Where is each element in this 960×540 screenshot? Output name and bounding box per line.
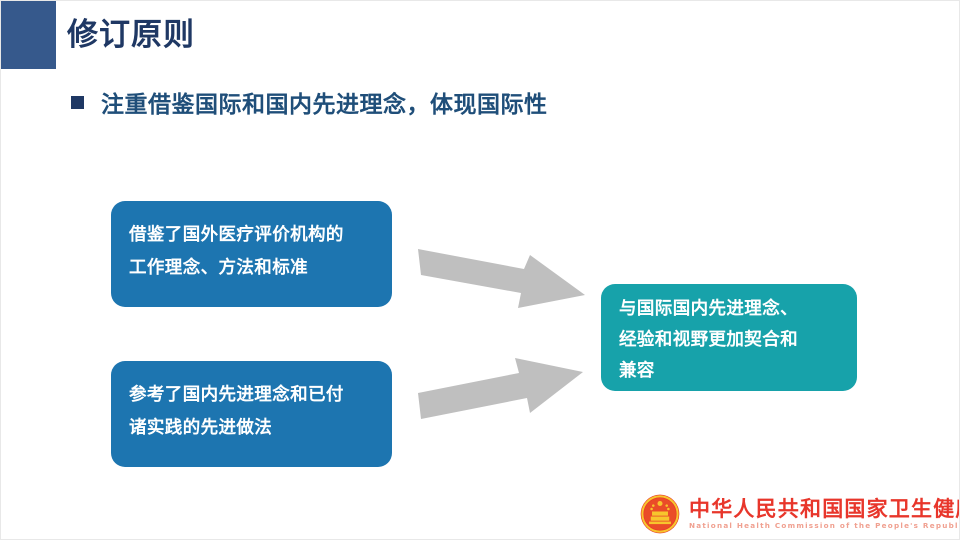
title-accent-bar [1, 1, 56, 69]
footer-org-name-en: National Health Commission of the People… [689, 521, 960, 532]
slide-canvas: 修订原则 注重借鉴国际和国内先进理念，体现国际性 借鉴了国外医疗评价机构的 工作… [0, 0, 960, 540]
text-line: 借鉴了国外医疗评价机构的 [129, 219, 380, 252]
footer-logo: 中华人民共和国国家卫生健康委员会 National Health Commiss… [639, 493, 960, 535]
text-line: 诸实践的先进做法 [129, 412, 380, 445]
arrow-right-down-icon [415, 235, 595, 325]
diagram-box-result: 与国际国内先进理念、 经验和视野更加契合和 兼容 [601, 284, 857, 391]
text-line: 经验和视野更加契合和 [619, 325, 845, 356]
arrow-right-up-icon [415, 345, 595, 435]
text-line: 工作理念、方法和标准 [129, 252, 380, 285]
square-bullet-icon [71, 96, 84, 109]
diagram-box-domestic-practice: 参考了国内先进理念和已付 诸实践的先进做法 [111, 361, 392, 467]
diagram-box-domestic-practice-lines: 参考了国内先进理念和已付 诸实践的先进做法 [129, 379, 380, 445]
text-line: 兼容 [619, 356, 845, 387]
footer-logo-text: 中华人民共和国国家卫生健康委员会 National Health Commiss… [689, 497, 960, 532]
diagram-box-foreign-practice-lines: 借鉴了国外医疗评价机构的 工作理念、方法和标准 [129, 219, 380, 285]
text-line: 与国际国内先进理念、 [619, 294, 845, 325]
text-line: 参考了国内先进理念和已付 [129, 379, 380, 412]
footer-org-name-cn: 中华人民共和国国家卫生健康委员会 [689, 497, 960, 521]
bullet-text: 注重借鉴国际和国内先进理念，体现国际性 [101, 85, 548, 119]
diagram-box-foreign-practice: 借鉴了国外医疗评价机构的 工作理念、方法和标准 [111, 201, 392, 307]
bullet-row: 注重借鉴国际和国内先进理念，体现国际性 [71, 85, 548, 119]
diagram-box-result-lines: 与国际国内先进理念、 经验和视野更加契合和 兼容 [619, 294, 845, 387]
china-national-emblem-icon [639, 493, 681, 535]
page-title: 修订原则 [67, 17, 195, 54]
